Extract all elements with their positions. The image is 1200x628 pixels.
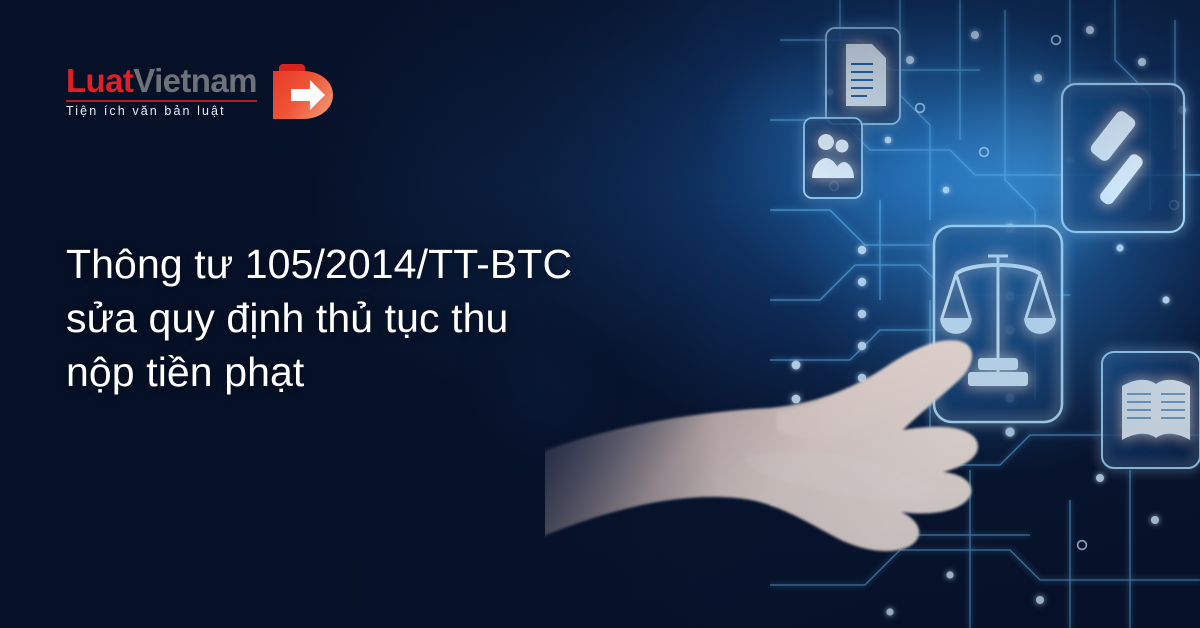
logo-wordmark-luat: Luat	[66, 62, 133, 99]
page-title-line-3: nộp tiền phạt	[66, 345, 686, 399]
logo-text-block: LuatVietnam Tiện ích văn bản luật	[66, 58, 257, 119]
luatvietnam-logo[interactable]: LuatVietnam Tiện ích văn bản luật	[66, 58, 337, 128]
logo-tagline: Tiện ích văn bản luật	[66, 104, 257, 119]
logo-wordmark-vietnam: Vietnam	[133, 62, 257, 99]
logo-wordmark: LuatVietnam	[66, 64, 257, 97]
red-folder-arrow-right-icon	[265, 56, 337, 128]
logo-divider	[66, 100, 257, 102]
page-title: Thông tư 105/2014/TT-BTC sửa quy định th…	[66, 237, 686, 399]
banner-root: LuatVietnam Tiện ích văn bản luật	[0, 0, 1200, 628]
page-title-line-2: sửa quy định thủ tục thu	[66, 291, 686, 345]
page-title-line-1: Thông tư 105/2014/TT-BTC	[66, 237, 686, 291]
